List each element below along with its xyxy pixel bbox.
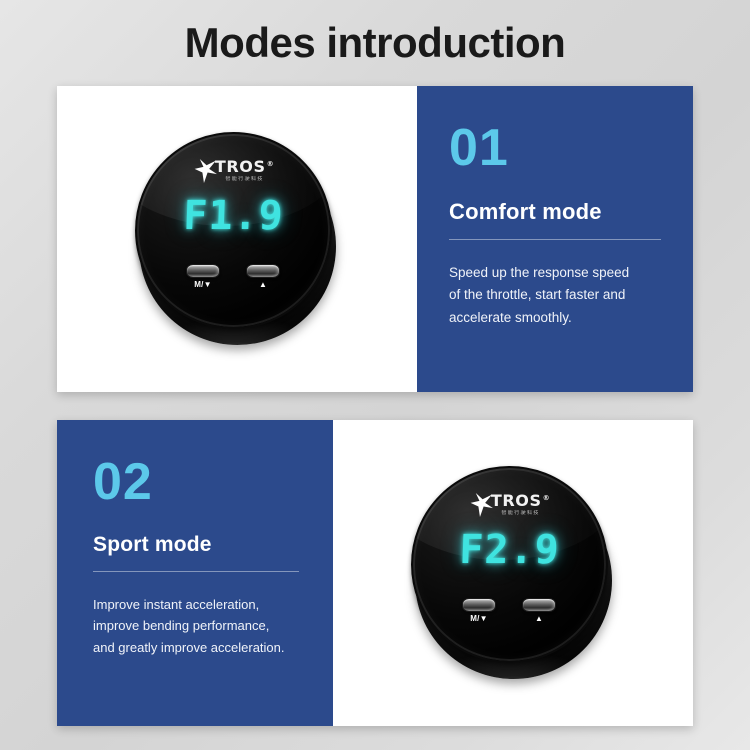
device-photo-01: TROS® 智能行驶科技 F1.9 M/▼ ▲ [57,86,417,392]
mode-name-02: Sport mode [93,533,307,557]
seven-segment-display-02: F2.9 [412,527,607,573]
mode-info-01: 01 Comfort mode Speed up the response sp… [417,86,693,392]
device-face: TROS® 智能行驶科技 F2.9 M/▼ ▲ [411,466,608,663]
mode-down-button-label: M/▼ [470,615,487,623]
mode-panel-02: TROS® 智能行驶科技 F2.9 M/▼ ▲ [57,420,693,726]
seven-segment-display-01: F1.9 [136,193,331,239]
up-button[interactable]: ▲ [246,264,280,289]
brand-logo: TROS® 智能行驶科技 [137,156,330,186]
mode-down-button[interactable]: M/▼ [186,264,220,289]
throttle-controller-device-01: TROS® 智能行驶科技 F1.9 M/▼ ▲ [135,132,340,347]
up-button-cap[interactable] [246,264,280,278]
mode-divider-02 [93,571,299,572]
mode-info-02: 02 Sport mode Improve instant accelerati… [57,420,333,726]
mode-divider-01 [449,239,661,240]
brand-logo: TROS® 智能行驶科技 [413,490,606,520]
device-button-row: M/▼ ▲ [413,598,606,623]
up-button-cap[interactable] [522,598,556,612]
device-photo-02: TROS® 智能行驶科技 F2.9 M/▼ ▲ [333,420,693,726]
brand-text: TROS® 智能行驶科技 [491,493,550,516]
brand-word: TROS® [491,493,550,509]
brand-word: TROS® [215,159,274,175]
brand-subtext: 智能行驶科技 [225,177,263,182]
device-button-row: M/▼ ▲ [137,264,330,289]
mode-down-button-cap[interactable] [186,264,220,278]
mode-description-02: Improve instant acceleration, improve be… [93,594,307,658]
brand-word-label: TROS [491,491,542,510]
mode-down-button-label: M/▼ [194,281,211,289]
up-button[interactable]: ▲ [522,598,556,623]
mode-name-01: Comfort mode [449,199,663,225]
mode-panel-01: TROS® 智能行驶科技 F1.9 M/▼ ▲ [57,86,693,392]
mode-number-02: 02 [93,456,307,508]
brand-word-label: TROS [215,157,266,176]
mode-description-01: Speed up the response speed of the throt… [449,262,663,329]
mode-down-button[interactable]: M/▼ [462,598,496,623]
registered-trademark-icon: ® [267,160,275,168]
brand-subtext: 智能行驶科技 [501,511,539,516]
page-title: Modes introduction [0,17,750,70]
throttle-controller-device-02: TROS® 智能行驶科技 F2.9 M/▼ ▲ [411,466,616,681]
registered-trademark-icon: ® [543,494,551,502]
up-button-label: ▲ [259,281,267,289]
device-face: TROS® 智能行驶科技 F1.9 M/▼ ▲ [135,132,332,329]
mode-number-01: 01 [449,122,663,174]
up-button-label: ▲ [535,615,543,623]
mode-down-button-cap[interactable] [462,598,496,612]
brand-text: TROS® 智能行驶科技 [215,159,274,182]
